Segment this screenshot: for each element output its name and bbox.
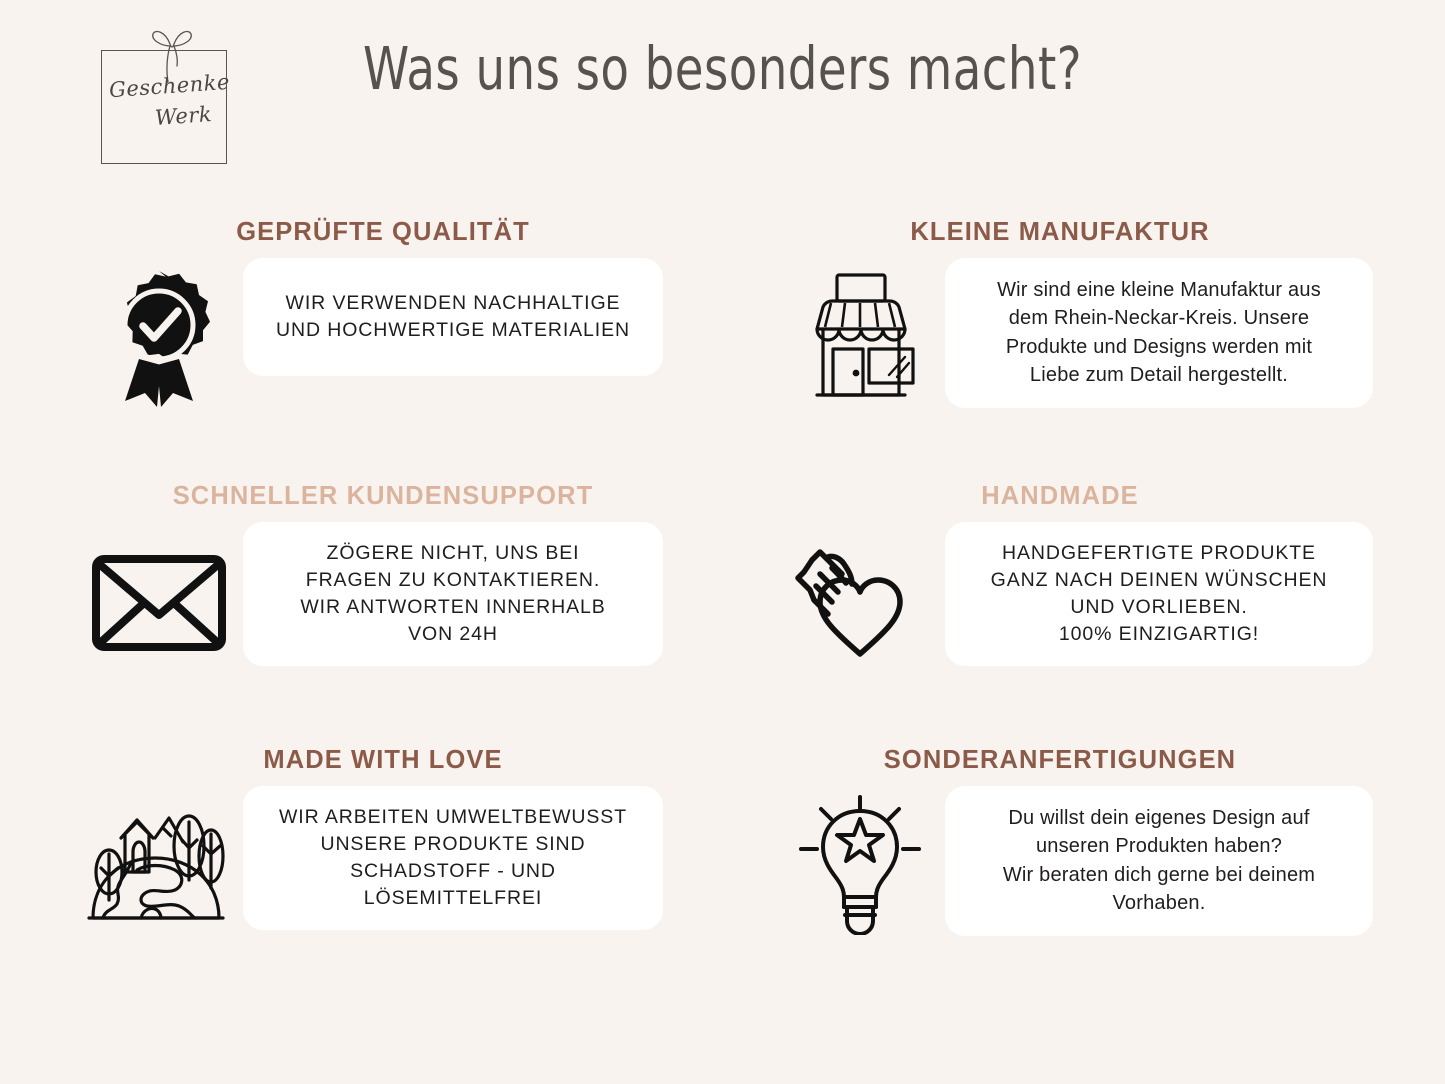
feature-row-2: SCHNELLER KUNDENSUPPORT ZÖGERE NICHT, UN…: [0, 460, 1445, 724]
feature-row-3: MADE WITH LOVE: [0, 724, 1445, 988]
feature-gepruefte-qualitaet: GEPRÜFTE QUALITÄT WIR VERWENDEN NACHHALT…: [30, 196, 690, 460]
eco-globe-icon: [74, 780, 244, 950]
feature-sonderanfertigungen: SONDERANFERTIGUNGEN: [745, 724, 1405, 988]
feature-kleine-manufaktur: KLEINE MANUFAKTUR: [745, 196, 1405, 460]
feature-card: Du willst dein eigenes Design auf unsere…: [945, 786, 1373, 936]
feature-card: Wir sind eine kleine Manufaktur aus dem …: [945, 258, 1373, 408]
hand-heart-icon: [775, 516, 945, 686]
feature-text: HANDGEFERTIGTE PRODUKTE GANZ NACH DEINEN…: [991, 540, 1328, 648]
feature-heading: KLEINE MANUFAKTUR: [745, 218, 1375, 247]
feature-text: ZÖGERE NICHT, UNS BEI FRAGEN ZU KONTAKTI…: [300, 540, 605, 648]
feature-text: Wir sind eine kleine Manufaktur aus dem …: [997, 276, 1321, 390]
envelope-icon: [74, 516, 244, 686]
feature-row-1: GEPRÜFTE QUALITÄT WIR VERWENDEN NACHHALT…: [0, 196, 1445, 460]
feature-heading: SCHNELLER KUNDENSUPPORT: [76, 482, 690, 511]
lightbulb-star-icon: [775, 780, 945, 950]
feature-heading: MADE WITH LOVE: [76, 746, 690, 775]
feature-heading: HANDMADE: [745, 482, 1375, 511]
feature-text: WIR ARBEITEN UMWELTBEWUSST UNSERE PRODUK…: [279, 804, 627, 912]
quality-badge-icon: [74, 252, 244, 422]
feature-schneller-kundensupport: SCHNELLER KUNDENSUPPORT ZÖGERE NICHT, UN…: [30, 460, 690, 724]
storefront-icon: [775, 252, 945, 422]
feature-heading: GEPRÜFTE QUALITÄT: [76, 218, 690, 247]
feature-made-with-love: MADE WITH LOVE: [30, 724, 690, 988]
feature-heading: SONDERANFERTIGUNGEN: [745, 746, 1375, 775]
page-title: Was uns so besonders macht?: [87, 34, 1359, 103]
feature-card: WIR ARBEITEN UMWELTBEWUSST UNSERE PRODUK…: [243, 786, 663, 930]
features-grid: GEPRÜFTE QUALITÄT WIR VERWENDEN NACHHALT…: [0, 196, 1445, 988]
feature-card: HANDGEFERTIGTE PRODUKTE GANZ NACH DEINEN…: [945, 522, 1373, 666]
feature-text: WIR VERWENDEN NACHHALTIGE UND HOCHWERTIG…: [276, 290, 630, 344]
logo-line-2: Werk: [154, 102, 213, 130]
feature-handmade: HANDMADE HANDGEFERTIGTE PRO: [745, 460, 1405, 724]
feature-text: Du willst dein eigenes Design auf unsere…: [1003, 804, 1315, 918]
feature-card: ZÖGERE NICHT, UNS BEI FRAGEN ZU KONTAKTI…: [243, 522, 663, 666]
feature-card: WIR VERWENDEN NACHHALTIGE UND HOCHWERTIG…: [243, 258, 663, 376]
